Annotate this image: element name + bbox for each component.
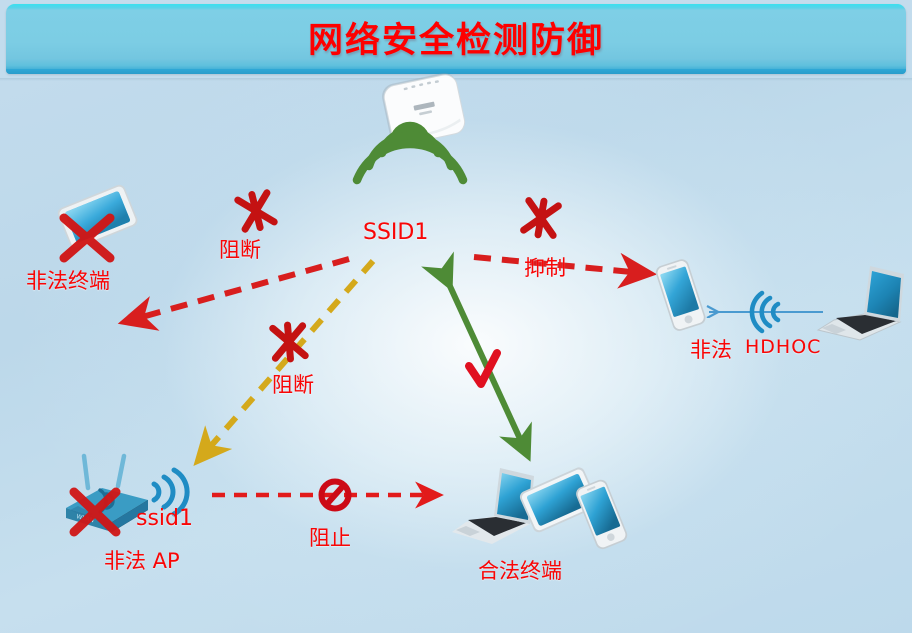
diagram-canvas: 非法终端 SSID1 (0, 78, 912, 633)
link-label-prevent-rogue-to-legal: 阻止 (309, 522, 351, 552)
x-mark-icon (523, 199, 558, 238)
illegal-terminal-node[interactable] (42, 196, 152, 276)
ssid1-label: SSID1 (363, 220, 428, 245)
illegal-adhoc-label-cn: 非法 (690, 334, 732, 364)
x-mark-icon (237, 191, 274, 231)
illegal-adhoc-laptop-node[interactable] (812, 258, 912, 350)
laptop-icon (818, 266, 904, 340)
diagram-stage: 网络安全检测防御 (0, 0, 912, 633)
smartphone-icon (654, 257, 707, 332)
laptop-icon (452, 468, 534, 544)
link-label-block-rogue-ap: 阻断 (272, 369, 314, 399)
adhoc-signal-icon (744, 286, 796, 338)
link-label-suppress-adhoc: 抑制 (524, 252, 566, 282)
ap-signal-icon (349, 131, 479, 211)
illegal-terminal-label: 非法终端 (26, 265, 110, 295)
x-mark-icon (273, 324, 306, 360)
rogue-ap-label: 非法 AP (104, 545, 180, 575)
no-entry-icon (322, 482, 349, 509)
legal-terminals-node[interactable] (448, 458, 648, 568)
smartphone-icon (574, 478, 629, 552)
check-mark-icon (469, 353, 497, 384)
illegal-adhoc-label-en: HDHOC (745, 336, 821, 358)
header-bar: 网络安全检测防御 (6, 4, 906, 74)
link-label-block-illegal-terminal: 阻断 (219, 234, 261, 264)
rogue-ap-ssid-label: ssid1 (136, 506, 193, 531)
header-top-highlight (6, 4, 906, 10)
page-title: 网络安全检测防御 (6, 12, 906, 63)
legal-terminals-label: 合法终端 (478, 555, 562, 585)
header-bottom-rule (6, 69, 906, 74)
